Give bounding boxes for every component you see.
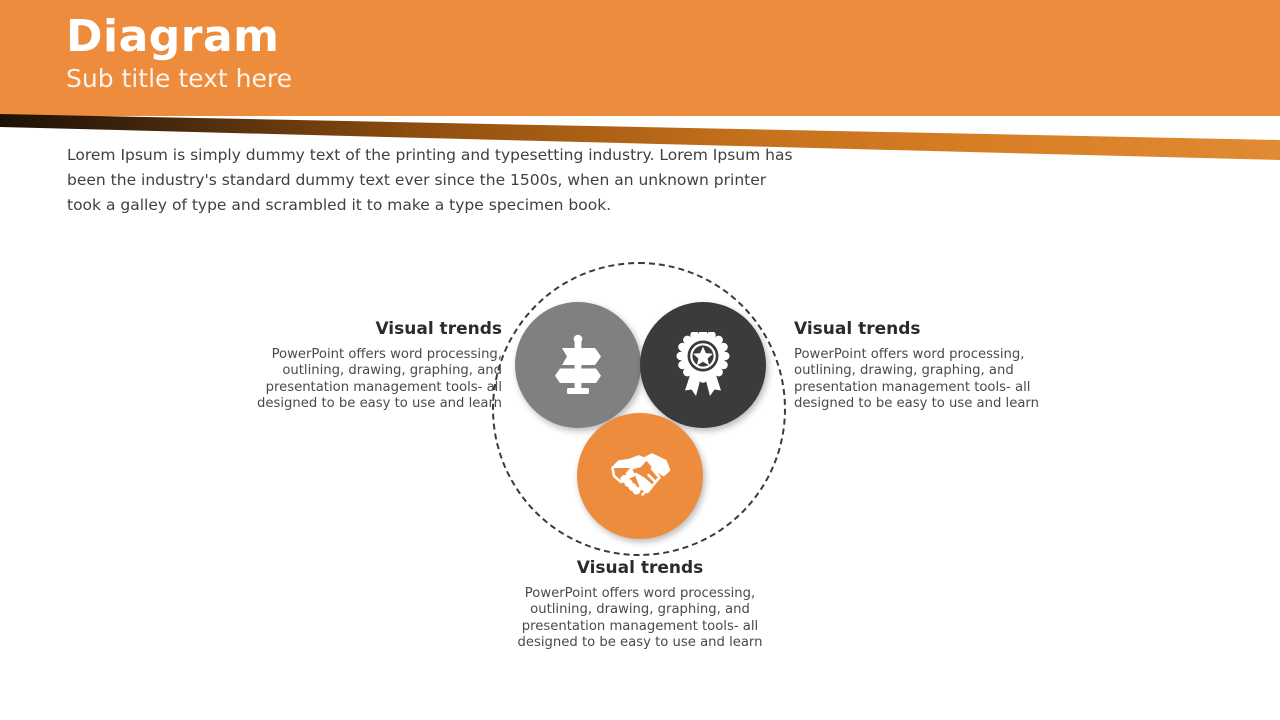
text-block-left: Visual trends PowerPoint offers word pro…: [240, 318, 502, 412]
text-block-bottom: Visual trends PowerPoint offers word pro…: [509, 557, 771, 651]
intro-paragraph: Lorem Ipsum is simply dummy text of the …: [67, 143, 797, 218]
signpost-icon: [548, 334, 608, 396]
page-title: Diagram: [66, 14, 292, 60]
page-subtitle: Sub title text here: [66, 63, 292, 94]
title-group: Diagram Sub title text here: [66, 14, 292, 94]
bubble-handshake[interactable]: [577, 413, 703, 539]
block-heading: Visual trends: [794, 318, 1056, 340]
block-body: PowerPoint offers word processing, outli…: [240, 347, 502, 412]
block-heading: Visual trends: [509, 557, 771, 579]
bubble-signpost[interactable]: [515, 302, 641, 428]
slide-canvas: Diagram Sub title text here Lorem Ipsum …: [0, 0, 1280, 720]
text-block-right: Visual trends PowerPoint offers word pro…: [794, 318, 1056, 412]
block-body: PowerPoint offers word processing, outli…: [509, 586, 771, 651]
block-body: PowerPoint offers word processing, outli…: [794, 347, 1056, 412]
bubble-award[interactable]: [640, 302, 766, 428]
block-heading: Visual trends: [240, 318, 502, 340]
handshake-icon: [607, 448, 673, 504]
award-ribbon-icon: [674, 332, 732, 398]
venn-diagram: [492, 262, 786, 556]
